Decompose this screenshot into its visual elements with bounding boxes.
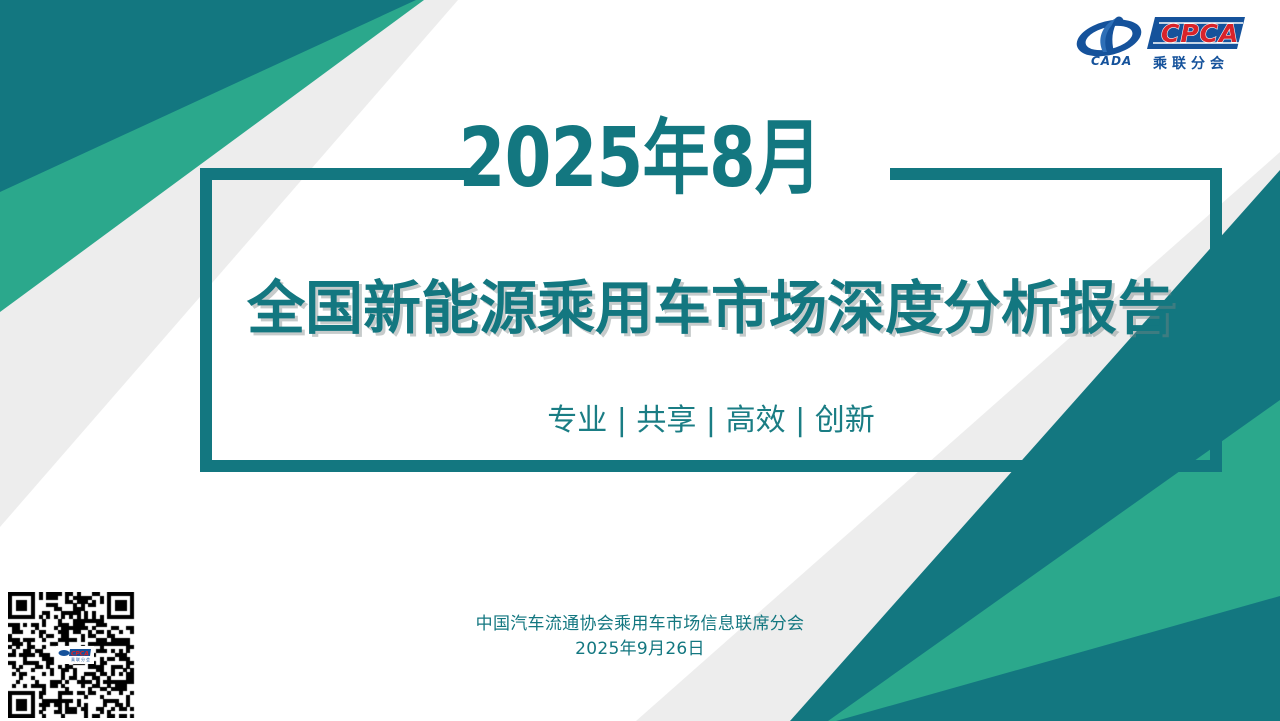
- cpca-logo: CADA CPCA 乘联分会: [1073, 12, 1245, 74]
- svg-text:乘联分会: 乘联分会: [71, 656, 91, 662]
- footer-date: 2025年9月26日: [0, 637, 1280, 662]
- qr-center-logo: CPCA 乘联分会: [56, 646, 94, 664]
- tagline: 专业 | 共享 | 高效 | 创新: [200, 403, 1222, 439]
- svg-text:乘联分会: 乘联分会: [1152, 55, 1229, 72]
- year-heading: 2025年8月: [115, 118, 1165, 200]
- cada-emblem-icon: CADA: [1073, 14, 1145, 68]
- footer-organization: 中国汽车流通协会乘用车市场信息联席分会: [0, 612, 1280, 637]
- cpca-wordmark: CPCA: [1147, 17, 1245, 49]
- svg-text:CADA: CADA: [1091, 54, 1132, 68]
- title-slide: 2025年8月 全国新能源乘用车市场深度分析报告 专业 | 共享 | 高效 | …: [0, 0, 1280, 721]
- svg-text:CPCA: CPCA: [1161, 19, 1239, 48]
- page-title: 全国新能源乘用车市场深度分析报告: [200, 278, 1222, 339]
- footer: 中国汽车流通协会乘用车市场信息联席分会 2025年9月26日: [0, 612, 1280, 661]
- cpca-qr-code[interactable]: CPCA 乘联分会: [8, 592, 141, 718]
- cpca-chinese-subtext: 乘联分会: [1152, 55, 1229, 72]
